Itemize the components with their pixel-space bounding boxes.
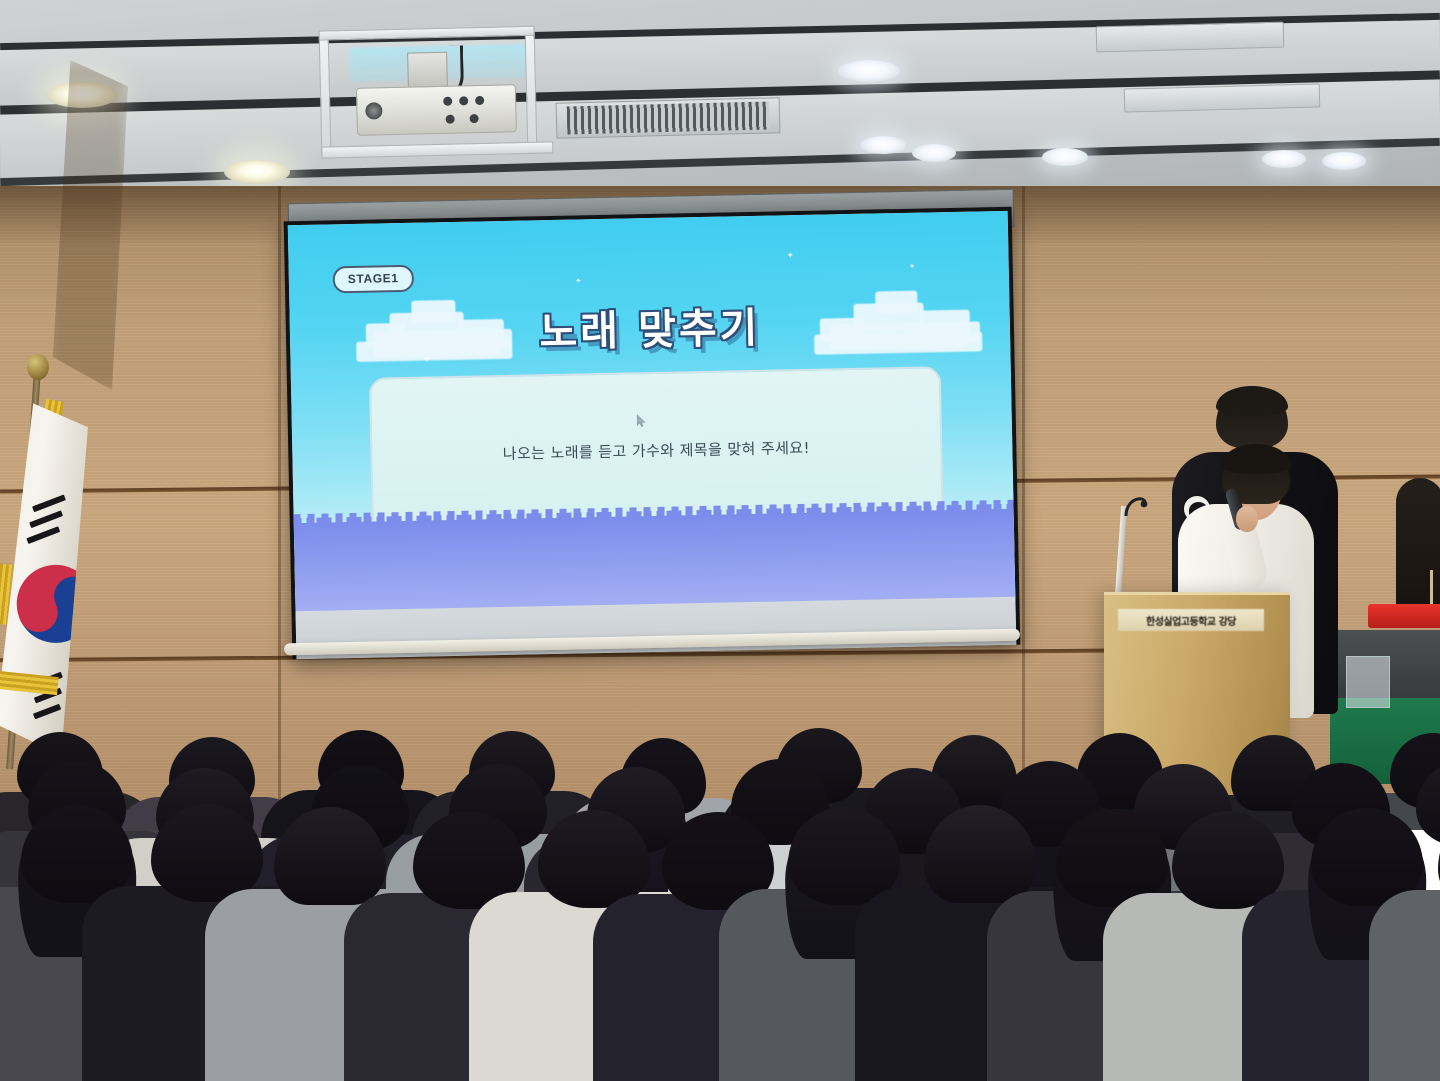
ceiling-light bbox=[224, 160, 290, 184]
sparkle-icon: ✦ bbox=[909, 263, 916, 271]
ceiling-light bbox=[912, 144, 956, 162]
air-vent bbox=[556, 97, 781, 138]
ceiling-light bbox=[1322, 152, 1366, 170]
projection-screen: ✦ ✦ ✦ ✦ STAGE1 노래 맞추기 나오는 노래를 듣고 가수와 제목을… bbox=[284, 207, 1021, 660]
podium-nameplate: 한성실업고등학교 강당 bbox=[1118, 609, 1264, 631]
presenter-hand bbox=[1236, 506, 1258, 532]
air-vent bbox=[1124, 83, 1321, 112]
audience-torso bbox=[1369, 890, 1440, 1081]
clear-container bbox=[1346, 656, 1390, 708]
audience-member bbox=[1369, 792, 1440, 1081]
ceiling bbox=[0, 0, 1440, 196]
taeguk-symbol bbox=[4, 552, 89, 656]
projector-mount bbox=[407, 52, 448, 89]
air-vent bbox=[1096, 22, 1285, 53]
sparkle-icon: ✦ bbox=[575, 277, 582, 285]
gooseneck-mic-icon bbox=[1122, 496, 1148, 518]
audience bbox=[0, 721, 1440, 1081]
projector-lens bbox=[365, 102, 382, 119]
ceiling-light bbox=[838, 60, 900, 82]
projector-cage bbox=[319, 25, 554, 158]
cursor-arrow-icon bbox=[637, 414, 646, 427]
flag-cloth bbox=[0, 402, 89, 756]
ceiling-light bbox=[860, 136, 906, 154]
projector bbox=[356, 84, 517, 136]
auditorium-scene: ✦ ✦ ✦ ✦ STAGE1 노래 맞추기 나오는 노래를 듣고 가수와 제목을… bbox=[0, 0, 1440, 1081]
stage-badge: STAGE1 bbox=[333, 265, 414, 294]
sparkle-icon: ✦ bbox=[786, 251, 794, 260]
ceiling-light bbox=[1042, 148, 1088, 166]
ceiling-light bbox=[1262, 150, 1306, 168]
slide-canvas: ✦ ✦ ✦ ✦ STAGE1 노래 맞추기 나오는 노래를 듣고 가수와 제목을… bbox=[288, 211, 1016, 615]
red-tray bbox=[1368, 604, 1440, 628]
slide-body-text: 나오는 노래를 듣고 가수와 제목을 맞혀 주세요! bbox=[372, 434, 940, 466]
korean-flag bbox=[0, 352, 112, 770]
flag-finial-icon bbox=[27, 354, 49, 380]
